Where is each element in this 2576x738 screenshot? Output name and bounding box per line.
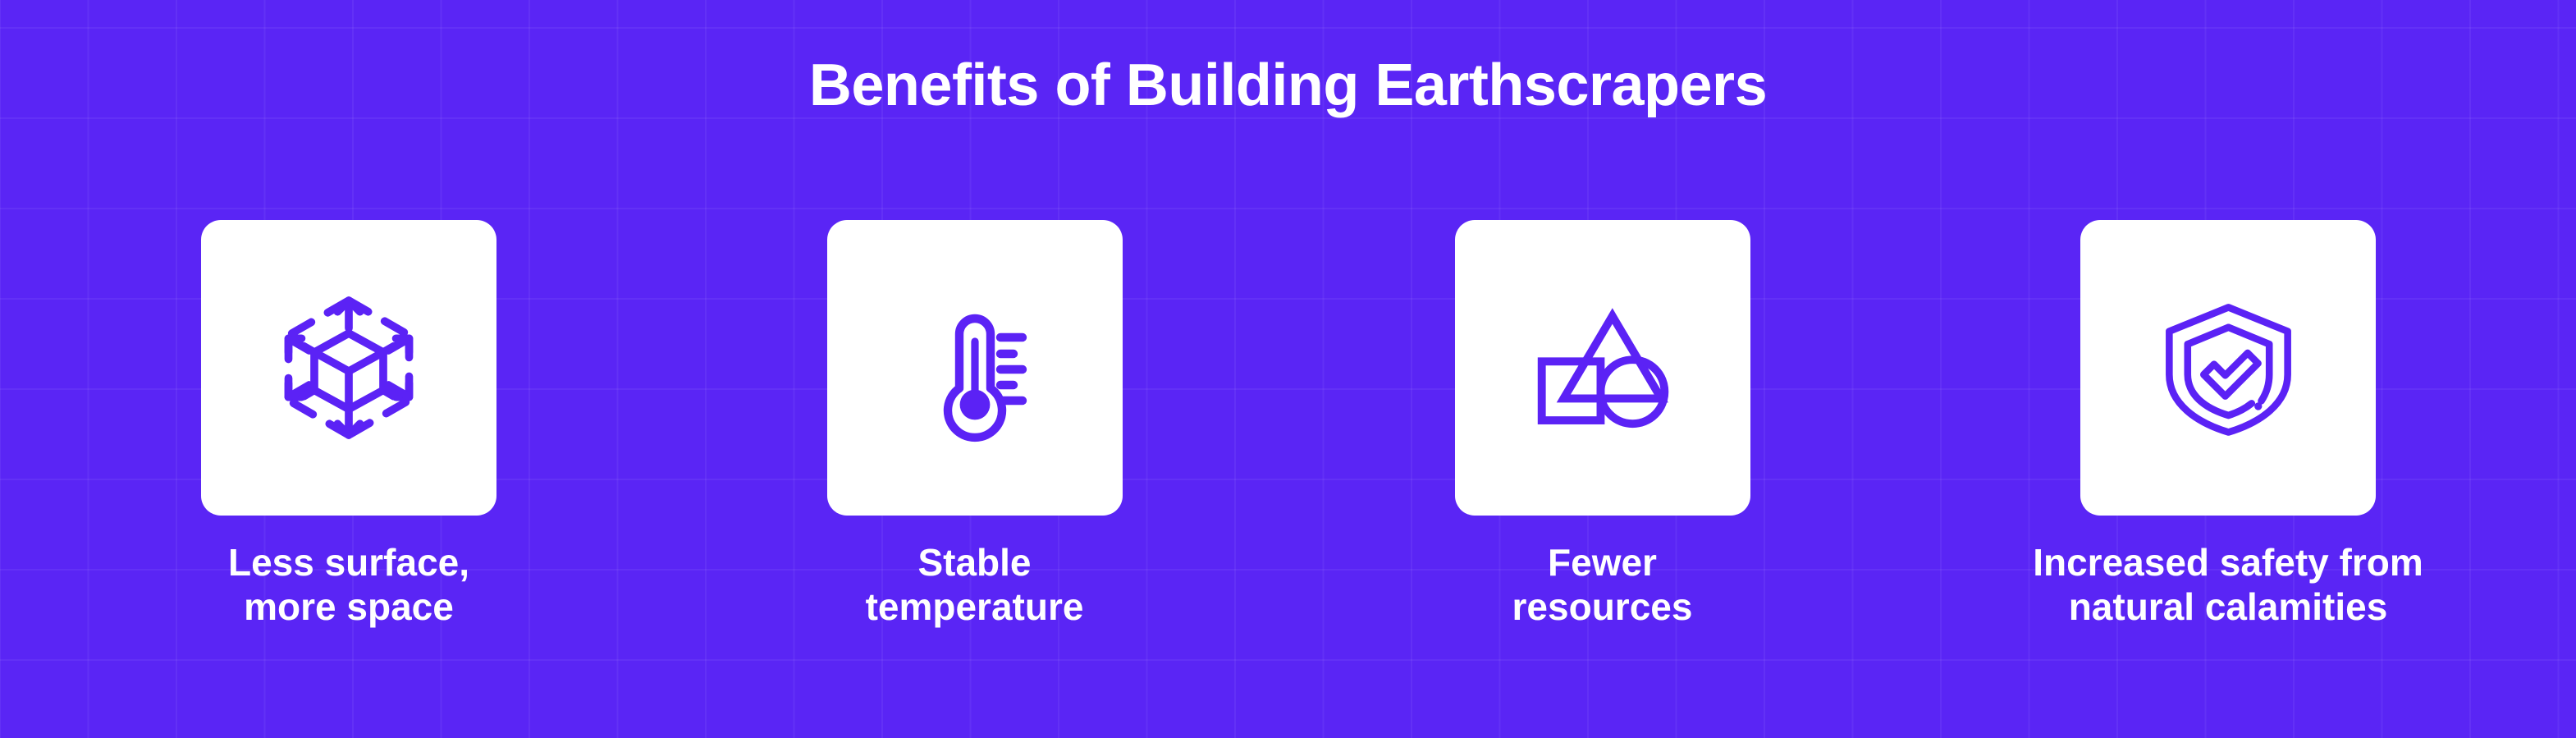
benefit-item-increased-safety: Increased safety from natural calamities — [2080, 220, 2376, 516]
benefit-label: Less surface, more space — [37, 540, 661, 630]
benefit-item-stable-temperature: Stable temperature — [826, 220, 1123, 516]
page-title: Benefits of Building Earthscrapers — [0, 56, 2576, 115]
shield-check-icon — [2148, 288, 2308, 448]
geometric-shapes-icon — [1518, 284, 1686, 452]
icon-card — [1455, 220, 1750, 516]
benefit-label: Stable temperature — [663, 540, 1287, 630]
thermometer-icon — [893, 286, 1057, 450]
infographic-page: Benefits of Building Earthscrapers — [0, 0, 2576, 738]
icon-card — [2080, 220, 2376, 516]
benefits-list: Less surface, more space — [0, 220, 2576, 680]
benefit-item-less-surface: Less surface, more space — [201, 220, 496, 516]
benefit-item-fewer-resources: Fewer resources — [1454, 220, 1750, 516]
benefit-label: Fewer resources — [1291, 540, 1915, 630]
icon-card — [201, 220, 496, 516]
expanding-cube-icon — [263, 282, 435, 454]
icon-card — [827, 220, 1123, 516]
benefit-label: Increased safety from natural calamities — [1916, 540, 2540, 630]
